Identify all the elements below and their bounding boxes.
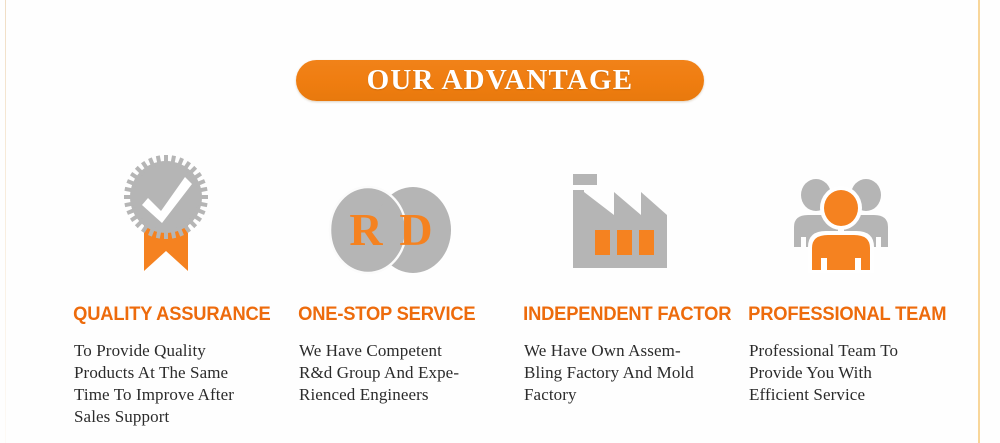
rd-letter-d: D [399, 204, 432, 255]
rd-letter-r: R [349, 204, 383, 255]
advantage-card-list: QUALITY ASSURANCE To Provide Quality Pro… [60, 150, 960, 428]
factory-icon [510, 150, 721, 279]
advantage-card: INDEPENDENT FACTOR We Have Own Assem- Bl… [510, 150, 735, 406]
section-header: OUR ADVANTAGE [0, 60, 1000, 101]
advantage-card: QUALITY ASSURANCE To Provide Quality Pro… [60, 150, 285, 428]
rd-venn-circles-icon: R D [285, 150, 496, 279]
advantage-section: OUR ADVANTAGE [0, 0, 1000, 443]
card-title: PROFESSIONAL TEAM [735, 303, 933, 326]
award-ribbon-icon [60, 150, 271, 279]
section-title-banner: OUR ADVANTAGE [296, 60, 704, 101]
card-body: Professional Team To Provide You With Ef… [735, 340, 946, 406]
team-people-icon [735, 150, 946, 279]
card-title: INDEPENDENT FACTOR [510, 303, 708, 326]
card-body: To Provide Quality Products At The Same … [60, 340, 271, 428]
advantage-card: R D ONE-STOP SERVICE We Have Competent R… [285, 150, 510, 406]
card-title: QUALITY ASSURANCE [60, 303, 258, 326]
advantage-card: PROFESSIONAL TEAM Professional Team To P… [735, 150, 960, 406]
card-body: We Have Competent R&d Group And Expe- Ri… [285, 340, 496, 406]
card-title: ONE-STOP SERVICE [285, 303, 483, 326]
card-body: We Have Own Assem- Bling Factory And Mol… [510, 340, 721, 406]
